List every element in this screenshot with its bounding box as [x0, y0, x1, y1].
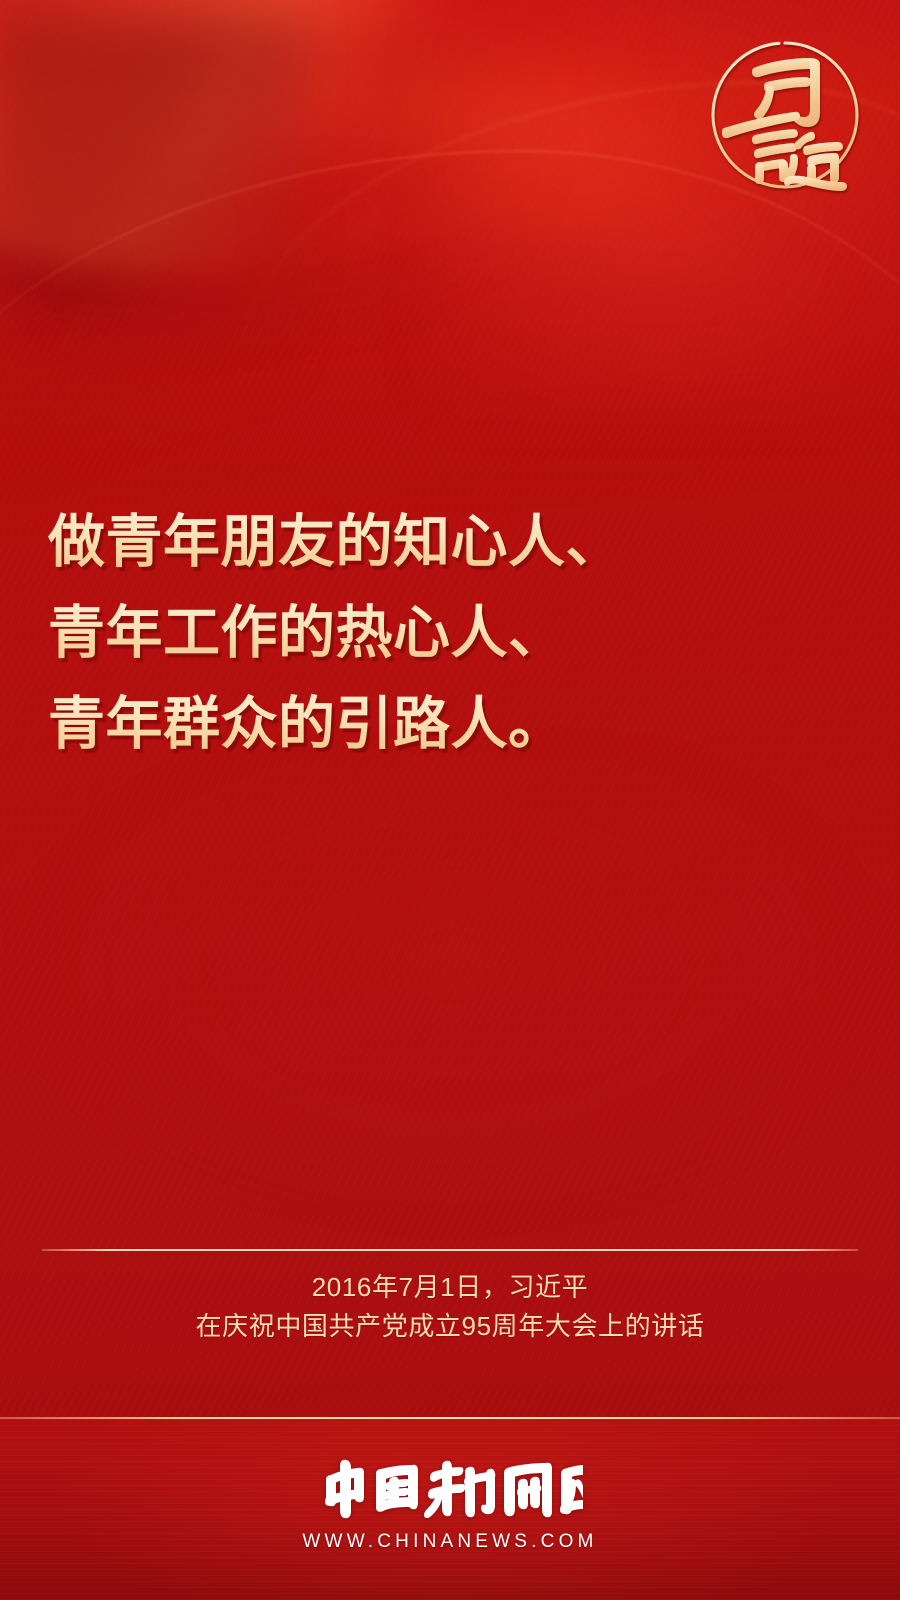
quote-line-3: 青年群众的引路人。 [48, 679, 668, 770]
xi-yan-dao-seal-logo [706, 36, 864, 194]
seal-character-dao [784, 132, 847, 191]
silk-fold-bright [0, 0, 640, 270]
silk-fold-dark [0, 30, 540, 330]
chinanews-url: WWW.CHINANEWS.COM [0, 1531, 900, 1553]
brand-char-wen [504, 1463, 552, 1518]
brand-char-wang [560, 1465, 583, 1514]
brand-char-zhong [325, 1460, 364, 1518]
quote-line-1: 做青年朋友的知心人、 [48, 497, 668, 588]
attribution-line-date: 2016年7月1日，习近平 [0, 1268, 900, 1307]
silk-mid-vignette [0, 760, 900, 1280]
brand-block: WWW.CHINANEWS.COM [0, 1457, 900, 1553]
quote-line-2: 青年工作的热心人、 [48, 588, 668, 679]
silk-left-shadow [0, 0, 300, 520]
quote-block: 做青年朋友的知心人、 青年工作的热心人、 青年群众的引路人。 [48, 497, 668, 770]
brand-char-xin [424, 1461, 495, 1518]
poster-canvas: 做青年朋友的知心人、 青年工作的热心人、 青年群众的引路人。 2016年7月1日… [0, 0, 900, 1600]
brand-char-guo [376, 1465, 418, 1512]
chinanews-wordmark-logo [0, 1457, 900, 1519]
attribution-line-occasion: 在庆祝中国共产党成立95周年大会上的讲话 [0, 1307, 900, 1346]
attribution-block: 2016年7月1日，习近平 在庆祝中国共产党成立95周年大会上的讲话 [0, 1268, 900, 1346]
footer-band: WWW.CHINANEWS.COM [0, 1419, 900, 1600]
attribution-divider [42, 1249, 858, 1251]
silk-highlight-left [0, 0, 757, 485]
